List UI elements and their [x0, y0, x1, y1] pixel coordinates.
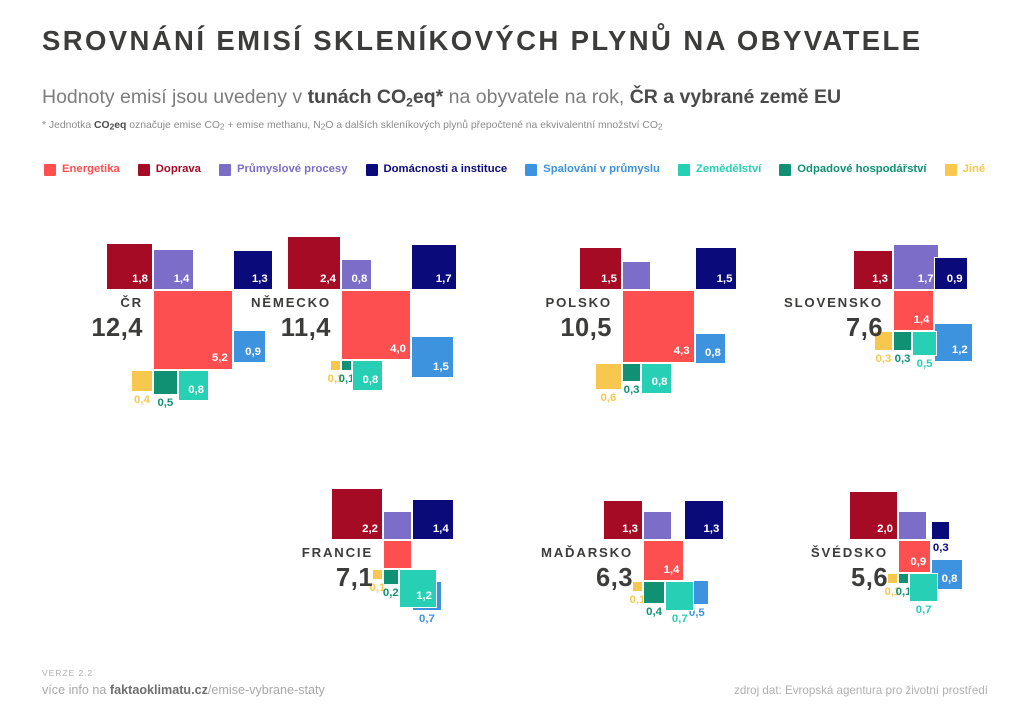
- treemap-box-prumysl_procesy[interactable]: [898, 511, 927, 540]
- treemap-chart-area: 1,81,41,35,20,90,40,50,8ČR12,42,40,81,74…: [0, 0, 1024, 724]
- footer-link-pre: více info na: [42, 683, 110, 697]
- treemap-value-spalovani: 0,8: [942, 574, 958, 585]
- country-label-block: ŠVÉDSKO5,6: [811, 546, 888, 592]
- footer-link-path: /emise-vybrane-staty: [208, 683, 325, 697]
- country-treemap-vdsko: 2,00,70,30,90,80,10,10,7ŠVÉDSKO5,6: [0, 0, 1024, 724]
- treemap-box-zemedelstvi[interactable]: [909, 573, 938, 602]
- footer-link[interactable]: více info na faktaoklimatu.cz/emise-vybr…: [42, 683, 325, 697]
- treemap-box-doprava[interactable]: 2,0: [849, 491, 898, 540]
- footer-version: VERZE 2.2: [42, 668, 93, 678]
- treemap-box-domacnosti[interactable]: [931, 521, 950, 540]
- treemap-value-zemedelstvi: 0,7: [916, 605, 932, 616]
- treemap-value-doprava: 2,0: [877, 524, 893, 535]
- treemap-box-odpady[interactable]: [898, 573, 909, 584]
- country-name: ŠVÉDSKO: [811, 546, 888, 559]
- treemap-value-energetika: 0,9: [910, 557, 926, 568]
- treemap-box-energetika[interactable]: 0,9: [898, 540, 931, 573]
- footer-link-domain: faktaoklimatu.cz: [110, 683, 208, 697]
- treemap-box-jine[interactable]: [887, 573, 898, 584]
- treemap-value-domacnosti: 0,3: [933, 543, 949, 554]
- footer-source: zdroj dat: Evropská agentura pro životní…: [734, 684, 988, 697]
- country-total-value: 5,6: [811, 566, 888, 592]
